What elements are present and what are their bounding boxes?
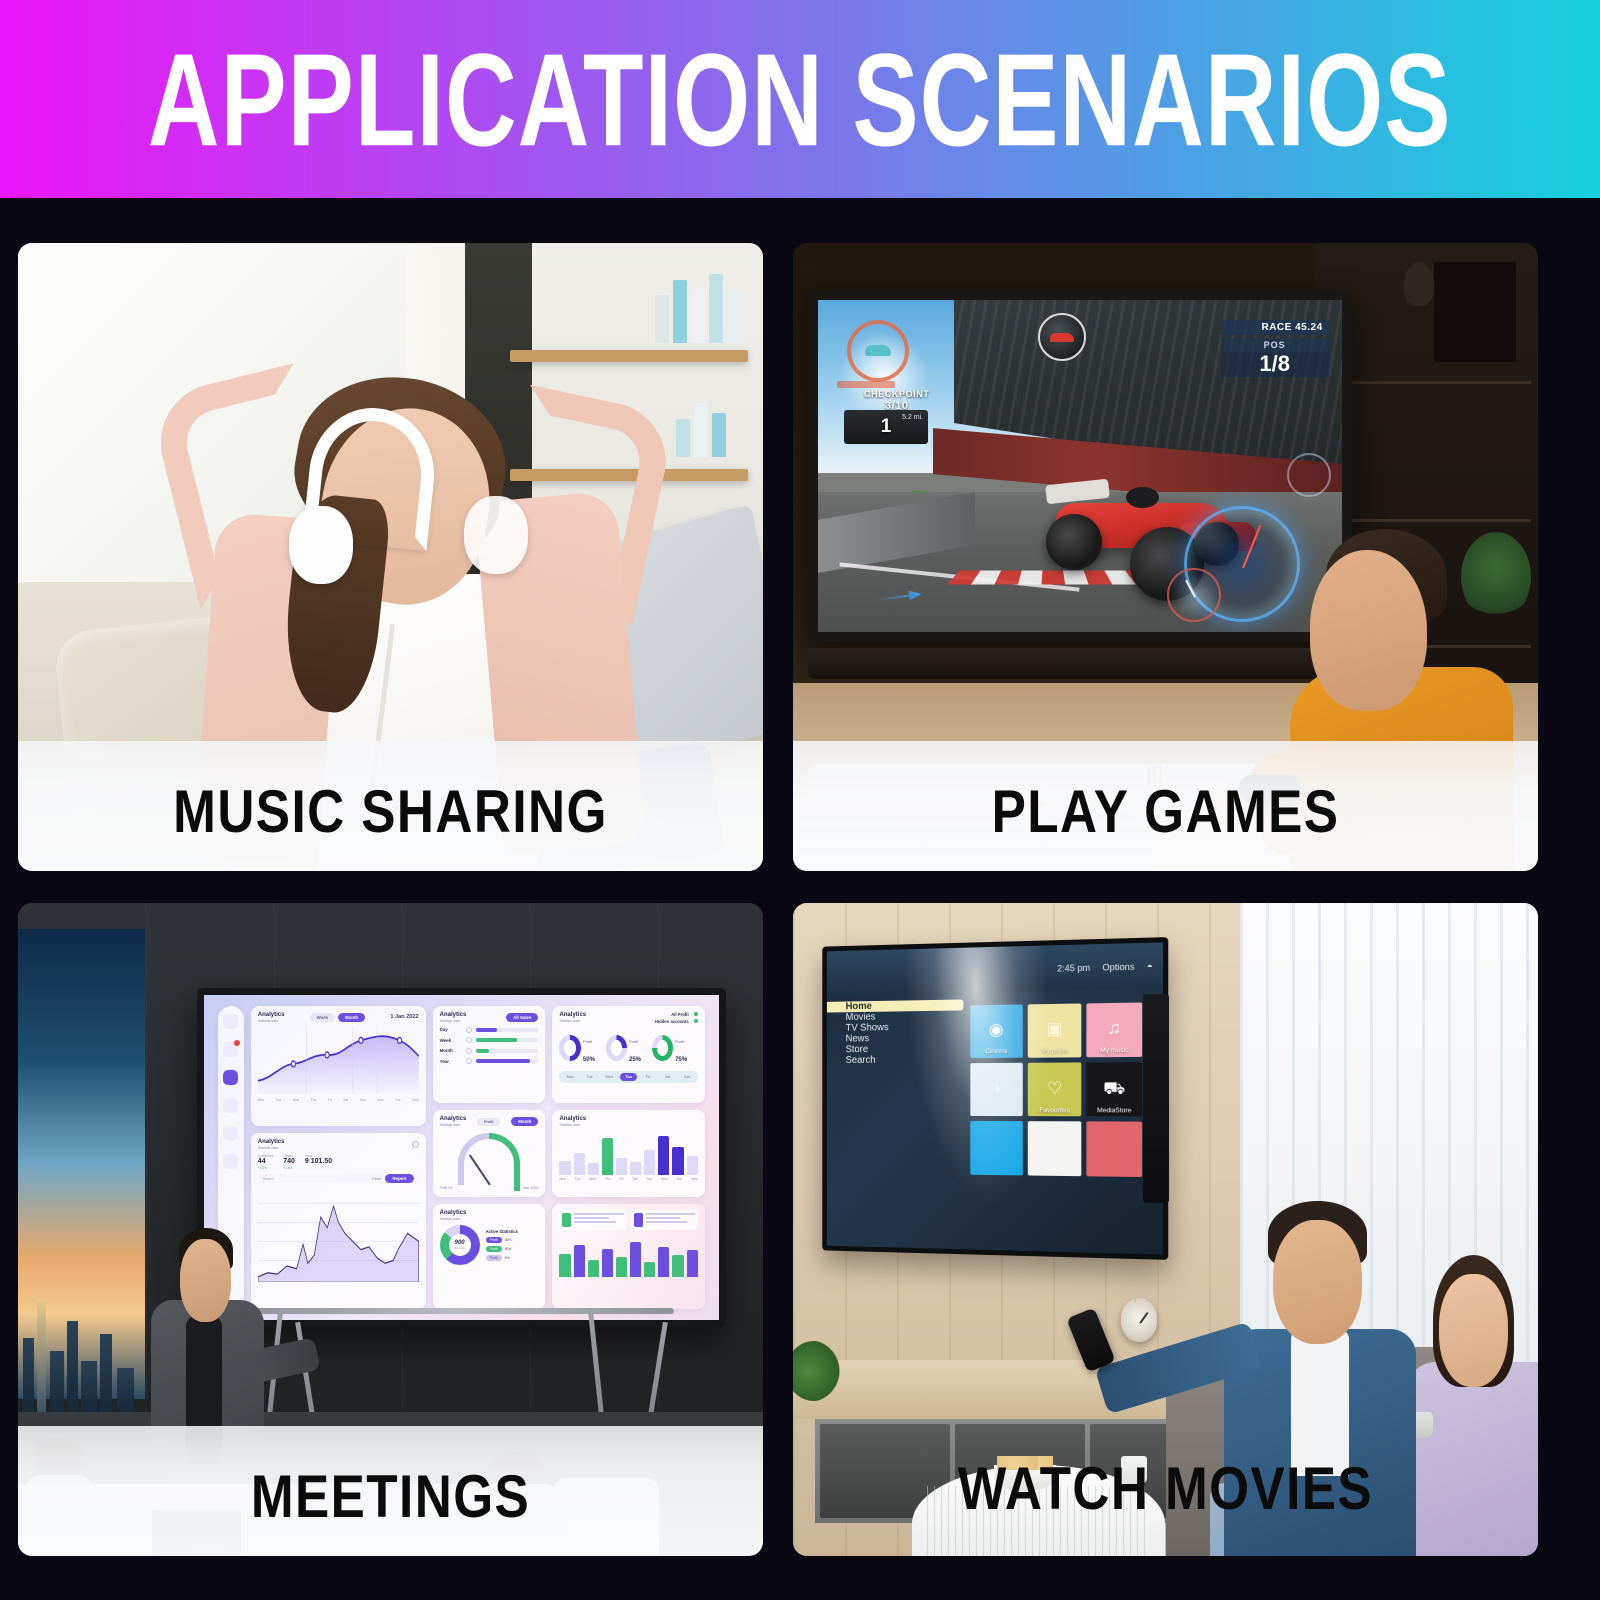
- soundbar: [1143, 994, 1169, 1203]
- tv-clock: 2:45 pm: [1057, 963, 1090, 974]
- card-caption-play-games: PLAY GAMES: [812, 777, 1520, 846]
- day-pill[interactable]: Fri: [639, 1073, 656, 1081]
- card-thumb: [634, 1213, 643, 1227]
- panel-detail-cards: [552, 1204, 704, 1310]
- gauge-max-label: Max 100%: [523, 1186, 538, 1190]
- info-icon: [466, 1027, 472, 1033]
- panel-periods: Analytics Statistic data All Sales Day: [433, 1006, 546, 1103]
- all-profit-label: All Profit: [671, 1012, 688, 1017]
- panel-active-statistics: Analytics Statistic data 900 February: [433, 1204, 546, 1310]
- period-label: Month: [440, 1048, 462, 1053]
- profit-ring-label: Profit: [675, 1039, 684, 1044]
- plant: [793, 1341, 842, 1401]
- day-pill-selected[interactable]: Thu: [620, 1073, 637, 1081]
- panel-subtitle: Statistic data: [559, 1019, 586, 1023]
- panel-subtitle: Statistic data: [440, 1019, 467, 1023]
- scenario-card-meetings[interactable]: Analytics Statistic data Week Month 1 Ja…: [18, 903, 763, 1556]
- panel-subtitle: Statistic data: [258, 1019, 285, 1023]
- day-pill[interactable]: Mon: [561, 1073, 578, 1081]
- trend-axis-labels: MonTueWedThuFri SatSunMonTueWed: [258, 1098, 419, 1102]
- status-dot: [694, 1012, 698, 1016]
- card-caption-meetings: MEETINGS: [37, 1462, 745, 1531]
- page-title: APPLICATION SCENARIOS: [148, 23, 1452, 176]
- bookshelf-books-2: [676, 394, 726, 457]
- kpi-value: 740: [283, 1158, 295, 1165]
- chart-icon[interactable]: [223, 1070, 238, 1085]
- panel-title: Analytics: [258, 1139, 285, 1145]
- stat-tag-value: 50%: [505, 1247, 512, 1251]
- profit-ring-label: Profit: [583, 1039, 592, 1044]
- trend-line-chart: MonTueWedThuFri SatSunMonTueWed: [258, 1027, 419, 1094]
- stat-tag-value: 6%: [505, 1256, 510, 1260]
- day-pill[interactable]: Sun: [678, 1073, 695, 1081]
- kpi-delta: +1.4%: [283, 1166, 295, 1170]
- search-placeholder: Search: [263, 1177, 274, 1181]
- profit-ring-value: 75%: [675, 1057, 687, 1063]
- period-list: Day Week: [440, 1027, 539, 1065]
- hud-tachometer-icon: [1167, 568, 1221, 622]
- hud-flag-icon: [1287, 453, 1331, 497]
- tile-extra-3[interactable]: [1087, 1122, 1142, 1177]
- city-skyline: [18, 1243, 145, 1413]
- hud-lap-number: 1: [881, 416, 892, 438]
- hud-checkpoint-label: CHECKPOINT: [864, 389, 930, 399]
- active-statistics-donut: 900 February: [440, 1225, 480, 1265]
- date-selector[interactable]: 1 Jan 2022: [390, 1014, 418, 1020]
- avatar[interactable]: [223, 1014, 238, 1029]
- users-icon[interactable]: [223, 1126, 238, 1141]
- cart-icon: ⛟: [1104, 1079, 1126, 1096]
- tv-home-menu: 2:45 pm Options ◓ Home Movies TV Shows N…: [827, 943, 1163, 1256]
- home-icon[interactable]: [223, 1042, 238, 1057]
- stat-tag-list: Profit 36% Profit 50%: [486, 1237, 518, 1261]
- panel-title: Analytics: [440, 1116, 467, 1122]
- stat-tag-label: Profit: [486, 1255, 502, 1261]
- application-scenarios-page: APPLICATION SCENARIOS: [0, 0, 1600, 1600]
- active-statistics-label: Active Statistics: [486, 1229, 518, 1234]
- hidden-accounts-label: Hidden accounts: [655, 1019, 689, 1024]
- panel-bar-chart: Analytics Statistic data: [552, 1110, 704, 1197]
- volatility-area-chart: [258, 1187, 419, 1282]
- stat-tag-value: 36%: [505, 1238, 512, 1242]
- hud-checkpoint: CHECKPOINT 3/10: [837, 389, 957, 412]
- card-caption-watch-movies: WATCH MOVIES: [812, 1454, 1520, 1523]
- gauge-action-button[interactable]: Month: [511, 1117, 538, 1126]
- profit-gauge: [458, 1133, 519, 1185]
- profit-ring: [606, 1035, 627, 1061]
- week-toggle[interactable]: Week: [310, 1013, 335, 1022]
- donut-caption: February: [454, 1246, 466, 1250]
- info-icon: [466, 1048, 472, 1054]
- kpi-value: 44: [258, 1158, 273, 1165]
- tile-my-music[interactable]: ♫ My music: [1087, 1002, 1142, 1057]
- gauge-min-label: Profit 0%: [440, 1186, 453, 1190]
- panel-subtitle: Statistic data: [559, 1123, 697, 1127]
- report-button[interactable]: Report: [385, 1174, 413, 1183]
- stat-tag-label: Profit: [486, 1237, 502, 1243]
- scenario-card-play-games[interactable]: CHECKPOINT 3/10 1 5.2 mi. RACE: [793, 243, 1538, 871]
- tile-label: MediaStore: [1087, 1107, 1142, 1114]
- card-caption-music-sharing: MUSIC SHARING: [37, 777, 745, 846]
- card-thumb: [562, 1213, 571, 1227]
- refresh-icon[interactable]: [412, 1141, 419, 1148]
- panel-subtitle: Statistic data: [258, 1146, 285, 1150]
- day-pill[interactable]: Tue: [581, 1073, 598, 1081]
- period-label: Day: [440, 1027, 462, 1032]
- wifi-icon: ◓: [1147, 961, 1153, 971]
- all-sales-button[interactable]: All Sales: [506, 1013, 538, 1022]
- hud-distance: 5.2 mi.: [902, 414, 923, 421]
- reset-button[interactable]: Reset: [372, 1177, 381, 1181]
- panel-profit-rings: Analytics Statistic data All Profit: [552, 1006, 704, 1103]
- hud-race-label: RACE: [1261, 322, 1291, 333]
- hud-pos-value: 1/8: [1221, 352, 1329, 377]
- kpi-group: Customers 44 +2.5% Orders 740 +1.4%: [258, 1154, 419, 1170]
- panel-subtitle: Statistic data: [440, 1123, 467, 1127]
- kpi-value: 9 101.50: [305, 1158, 332, 1165]
- detail-bar-chart: [559, 1234, 697, 1277]
- list-item: Month: [440, 1048, 539, 1054]
- day-pill-group[interactable]: Mon Tue Wed Thu Fri Sat Sun: [559, 1071, 697, 1083]
- scenario-card-watch-movies[interactable]: 2:45 pm Options ◓ Home Movies TV Shows N…: [793, 903, 1538, 1556]
- hud-right-panel: RACE 45.24 POS 1/8: [1221, 320, 1329, 377]
- info-icon: [466, 1058, 472, 1064]
- stat-tag-label: Profit: [486, 1246, 502, 1252]
- panel-title: Analytics: [258, 1012, 285, 1018]
- bookshelf-books: [655, 274, 741, 343]
- profit-ring-group: Profit 50% Profit: [559, 1030, 697, 1066]
- kpi-item: Orders 740 +1.4%: [283, 1154, 295, 1170]
- smart-tv: 2:45 pm Options ◓ Home Movies TV Shows N…: [823, 937, 1169, 1260]
- list-item: Week: [440, 1037, 539, 1043]
- panel-title: Analytics: [559, 1116, 697, 1122]
- kpi-item: Total 9 101.50: [305, 1154, 332, 1170]
- options-button[interactable]: Options: [1103, 962, 1135, 973]
- day-pill[interactable]: Wed: [600, 1073, 617, 1081]
- kpi-delta: +2.5%: [258, 1166, 273, 1170]
- panel-title: Analytics: [440, 1012, 467, 1018]
- list-item: Year: [440, 1058, 539, 1064]
- panel-trend: Analytics Statistic data Week Month 1 Ja…: [251, 1006, 426, 1126]
- tile-mediastore[interactable]: ⛟ MediaStore: [1087, 1062, 1142, 1117]
- kpi-item: Customers 44 +2.5%: [258, 1154, 273, 1170]
- bar-chart: [559, 1132, 697, 1175]
- scenario-grid: MUSIC SHARING: [18, 243, 1582, 1583]
- game-screen: CHECKPOINT 3/10 1 5.2 mi. RACE: [818, 300, 1342, 632]
- scenario-card-music-sharing[interactable]: MUSIC SHARING: [18, 243, 763, 871]
- tile-label: My music: [1087, 1047, 1142, 1055]
- panel-title: Analytics: [440, 1210, 539, 1216]
- day-pill[interactable]: Sat: [659, 1073, 676, 1081]
- hud-car-badge-icon: [1038, 313, 1086, 361]
- profit-ring: [559, 1035, 580, 1061]
- dashboard-search[interactable]: Search Reset Report: [258, 1174, 419, 1183]
- profit-ring-label: Profit: [629, 1039, 638, 1044]
- list-item: Day: [440, 1027, 539, 1033]
- music-note-icon: ♫: [1108, 1020, 1121, 1038]
- wallet-icon[interactable]: [223, 1098, 238, 1113]
- info-icon: [466, 1037, 472, 1043]
- list-item: Profit 6%: [486, 1255, 518, 1261]
- status-dot: [694, 1019, 698, 1023]
- list-item: Profit 50%: [486, 1246, 518, 1252]
- hud-pos-label: POS: [1221, 338, 1329, 352]
- hud-lap-board: 1 5.2 mi.: [844, 410, 928, 444]
- panel-title: Analytics: [559, 1012, 586, 1018]
- header-banner: APPLICATION SCENARIOS: [0, 0, 1600, 198]
- panel-gauge: Analytics Statistic data Profit Month Pr: [433, 1110, 546, 1197]
- list-item: Profit 36%: [486, 1237, 518, 1243]
- profit-ring-value: 25%: [629, 1057, 641, 1063]
- analytics-dashboard: Analytics Statistic data Week Month 1 Ja…: [204, 995, 719, 1321]
- hud-car-ring-icon: [847, 320, 909, 382]
- hud-race-time: 45.24: [1295, 322, 1323, 333]
- profit-ring-value: 50%: [583, 1057, 595, 1063]
- gauge-profit-label: Profit: [477, 1118, 500, 1126]
- table-clock: [1121, 1298, 1157, 1342]
- profit-ring: [652, 1035, 673, 1061]
- period-label: Week: [440, 1038, 462, 1043]
- period-label: Year: [440, 1059, 462, 1064]
- gear-icon[interactable]: [223, 1154, 238, 1169]
- month-toggle[interactable]: Month: [338, 1013, 365, 1022]
- panel-subtitle: Statistic data: [440, 1217, 539, 1221]
